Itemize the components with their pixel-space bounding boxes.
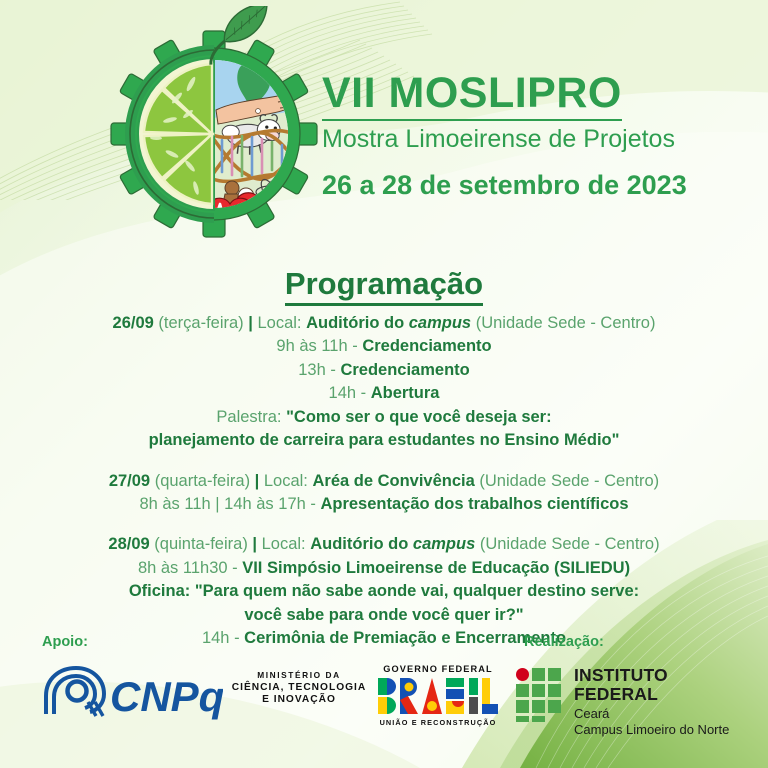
- schedule-text: Auditório do: [310, 535, 413, 553]
- schedule-text: Local:: [264, 472, 313, 490]
- schedule-text: (Unidade Sede - Centro): [475, 535, 659, 553]
- governo-federal-logo: GOVERNO FEDERAL: [374, 664, 502, 736]
- schedule-text: 27/09: [109, 472, 150, 490]
- governo-federal-label: GOVERNO FEDERAL: [374, 664, 502, 674]
- schedule-text: (quinta-feira): [150, 535, 248, 553]
- schedule-text: você sabe para onde você quer ir?": [244, 606, 523, 624]
- schedule-text: Oficina: "Para quem não sabe aonde vai, …: [129, 582, 639, 600]
- schedule-text: 8h às 11h30 -: [138, 559, 242, 577]
- schedule-line: 8h às 11h30 - VII Simpósio Limoeirense d…: [40, 557, 728, 580]
- program-heading-text: Programação: [285, 266, 483, 306]
- schedule-text: Local:: [257, 314, 306, 332]
- schedule-text: (Unidade Sede - Centro): [475, 472, 659, 490]
- schedule-line: 27/09 (quarta-feira) | Local: Aréa de Co…: [40, 470, 728, 493]
- schedule-text: Credenciamento: [362, 337, 491, 355]
- schedule-text: (terça-feira): [154, 314, 244, 332]
- schedule-text: campus: [413, 535, 475, 553]
- schedule-list: 26/09 (terça-feira) | Local: Auditório d…: [40, 312, 728, 650]
- schedule-text: VII Simpósio Limoeirense de Educação (SI…: [242, 559, 630, 577]
- schedule-text: Local:: [262, 535, 311, 553]
- mcti-line1: MINISTÉRIO DA: [228, 670, 370, 680]
- ifce-line2: Ceará: [574, 706, 741, 722]
- cnpq-wordmark: CNPq: [110, 673, 223, 720]
- schedule-line: Palestra: "Como ser o que você deseja se…: [40, 406, 728, 429]
- schedule-text: planejamento de carreira para estudantes…: [149, 431, 620, 449]
- ifce-line1: INSTITUTO FEDERAL: [574, 666, 741, 705]
- schedule-text: 26/09: [113, 314, 154, 332]
- schedule-text: campus: [409, 314, 471, 332]
- moslipro-logo: [92, 6, 332, 246]
- mcti-line3: E INOVAÇÃO: [228, 694, 370, 705]
- poster-root: VII MOSLIPRO Mostra Limoeirense de Proje…: [0, 0, 768, 768]
- schedule-text: 13h -: [298, 361, 340, 379]
- schedule-text: Palestra:: [216, 408, 286, 426]
- schedule-line: 13h - Credenciamento: [40, 359, 728, 382]
- schedule-text: |: [248, 535, 262, 553]
- schedule-line: 14h - Abertura: [40, 382, 728, 405]
- event-subtitle: Mostra Limoeirense de Projetos: [322, 124, 714, 155]
- schedule-line: 26/09 (terça-feira) | Local: Auditório d…: [40, 312, 728, 335]
- event-title: VII MOSLIPRO: [322, 72, 622, 121]
- schedule-text: 8h às 11h | 14h às 17h -: [139, 495, 320, 513]
- schedule-text: (Unidade Sede - Centro): [471, 314, 655, 332]
- schedule-text: 28/09: [108, 535, 149, 553]
- footer-sponsors: Apoio: Realização: CNPq MINISTÉRIO DA CI…: [0, 624, 768, 768]
- schedule-line: Oficina: "Para quem não sabe aonde vai, …: [40, 580, 728, 603]
- schedule-day-day-27: 27/09 (quarta-feira) | Local: Aréa de Co…: [40, 470, 728, 517]
- schedule-text: "Como ser o que você deseja ser:: [286, 408, 552, 426]
- instituto-federal-mark: [516, 668, 566, 722]
- program-heading: Programação: [0, 266, 768, 302]
- mcti-line2: CIÊNCIA, TECNOLOGIA: [228, 682, 370, 693]
- schedule-line: 28/09 (quinta-feira) | Local: Auditório …: [40, 533, 728, 556]
- schedule-text: (quarta-feira): [150, 472, 250, 490]
- ifce-logo: INSTITUTO FEDERAL Ceará Campus Limoeiro …: [516, 666, 741, 736]
- schedule-text: Apresentação dos trabalhos científicos: [320, 495, 628, 513]
- schedule-line: 8h às 11h | 14h às 17h - Apresentação do…: [40, 493, 728, 516]
- title-block: VII MOSLIPRO Mostra Limoeirense de Proje…: [322, 72, 714, 202]
- schedule-text: Credenciamento: [340, 361, 469, 379]
- brasil-wordmark-graphic: [376, 676, 500, 716]
- event-date: 26 a 28 de setembro de 2023: [322, 169, 714, 201]
- schedule-text: Auditório do: [306, 314, 409, 332]
- schedule-text: |: [244, 314, 258, 332]
- schedule-text: 14h -: [329, 384, 371, 402]
- schedule-text: |: [250, 472, 264, 490]
- cnpq-logo: CNPq: [38, 662, 223, 724]
- schedule-line: planejamento de carreira para estudantes…: [40, 429, 728, 452]
- apoio-label: Apoio:: [42, 634, 88, 650]
- mcti-logo: MINISTÉRIO DA CIÊNCIA, TECNOLOGIA E INOV…: [228, 670, 370, 705]
- realizacao-label: Realização:: [524, 634, 604, 650]
- governo-federal-slogan: UNIÃO E RECONSTRUÇÃO: [374, 718, 502, 727]
- schedule-text: 9h às 11h -: [276, 337, 362, 355]
- schedule-text: Abertura: [371, 384, 440, 402]
- ifce-line3: Campus Limoeiro do Norte: [574, 722, 741, 738]
- schedule-day-day-26: 26/09 (terça-feira) | Local: Auditório d…: [40, 312, 728, 453]
- schedule-text: Aréa de Convivência: [312, 472, 474, 490]
- schedule-line: 9h às 11h - Credenciamento: [40, 335, 728, 358]
